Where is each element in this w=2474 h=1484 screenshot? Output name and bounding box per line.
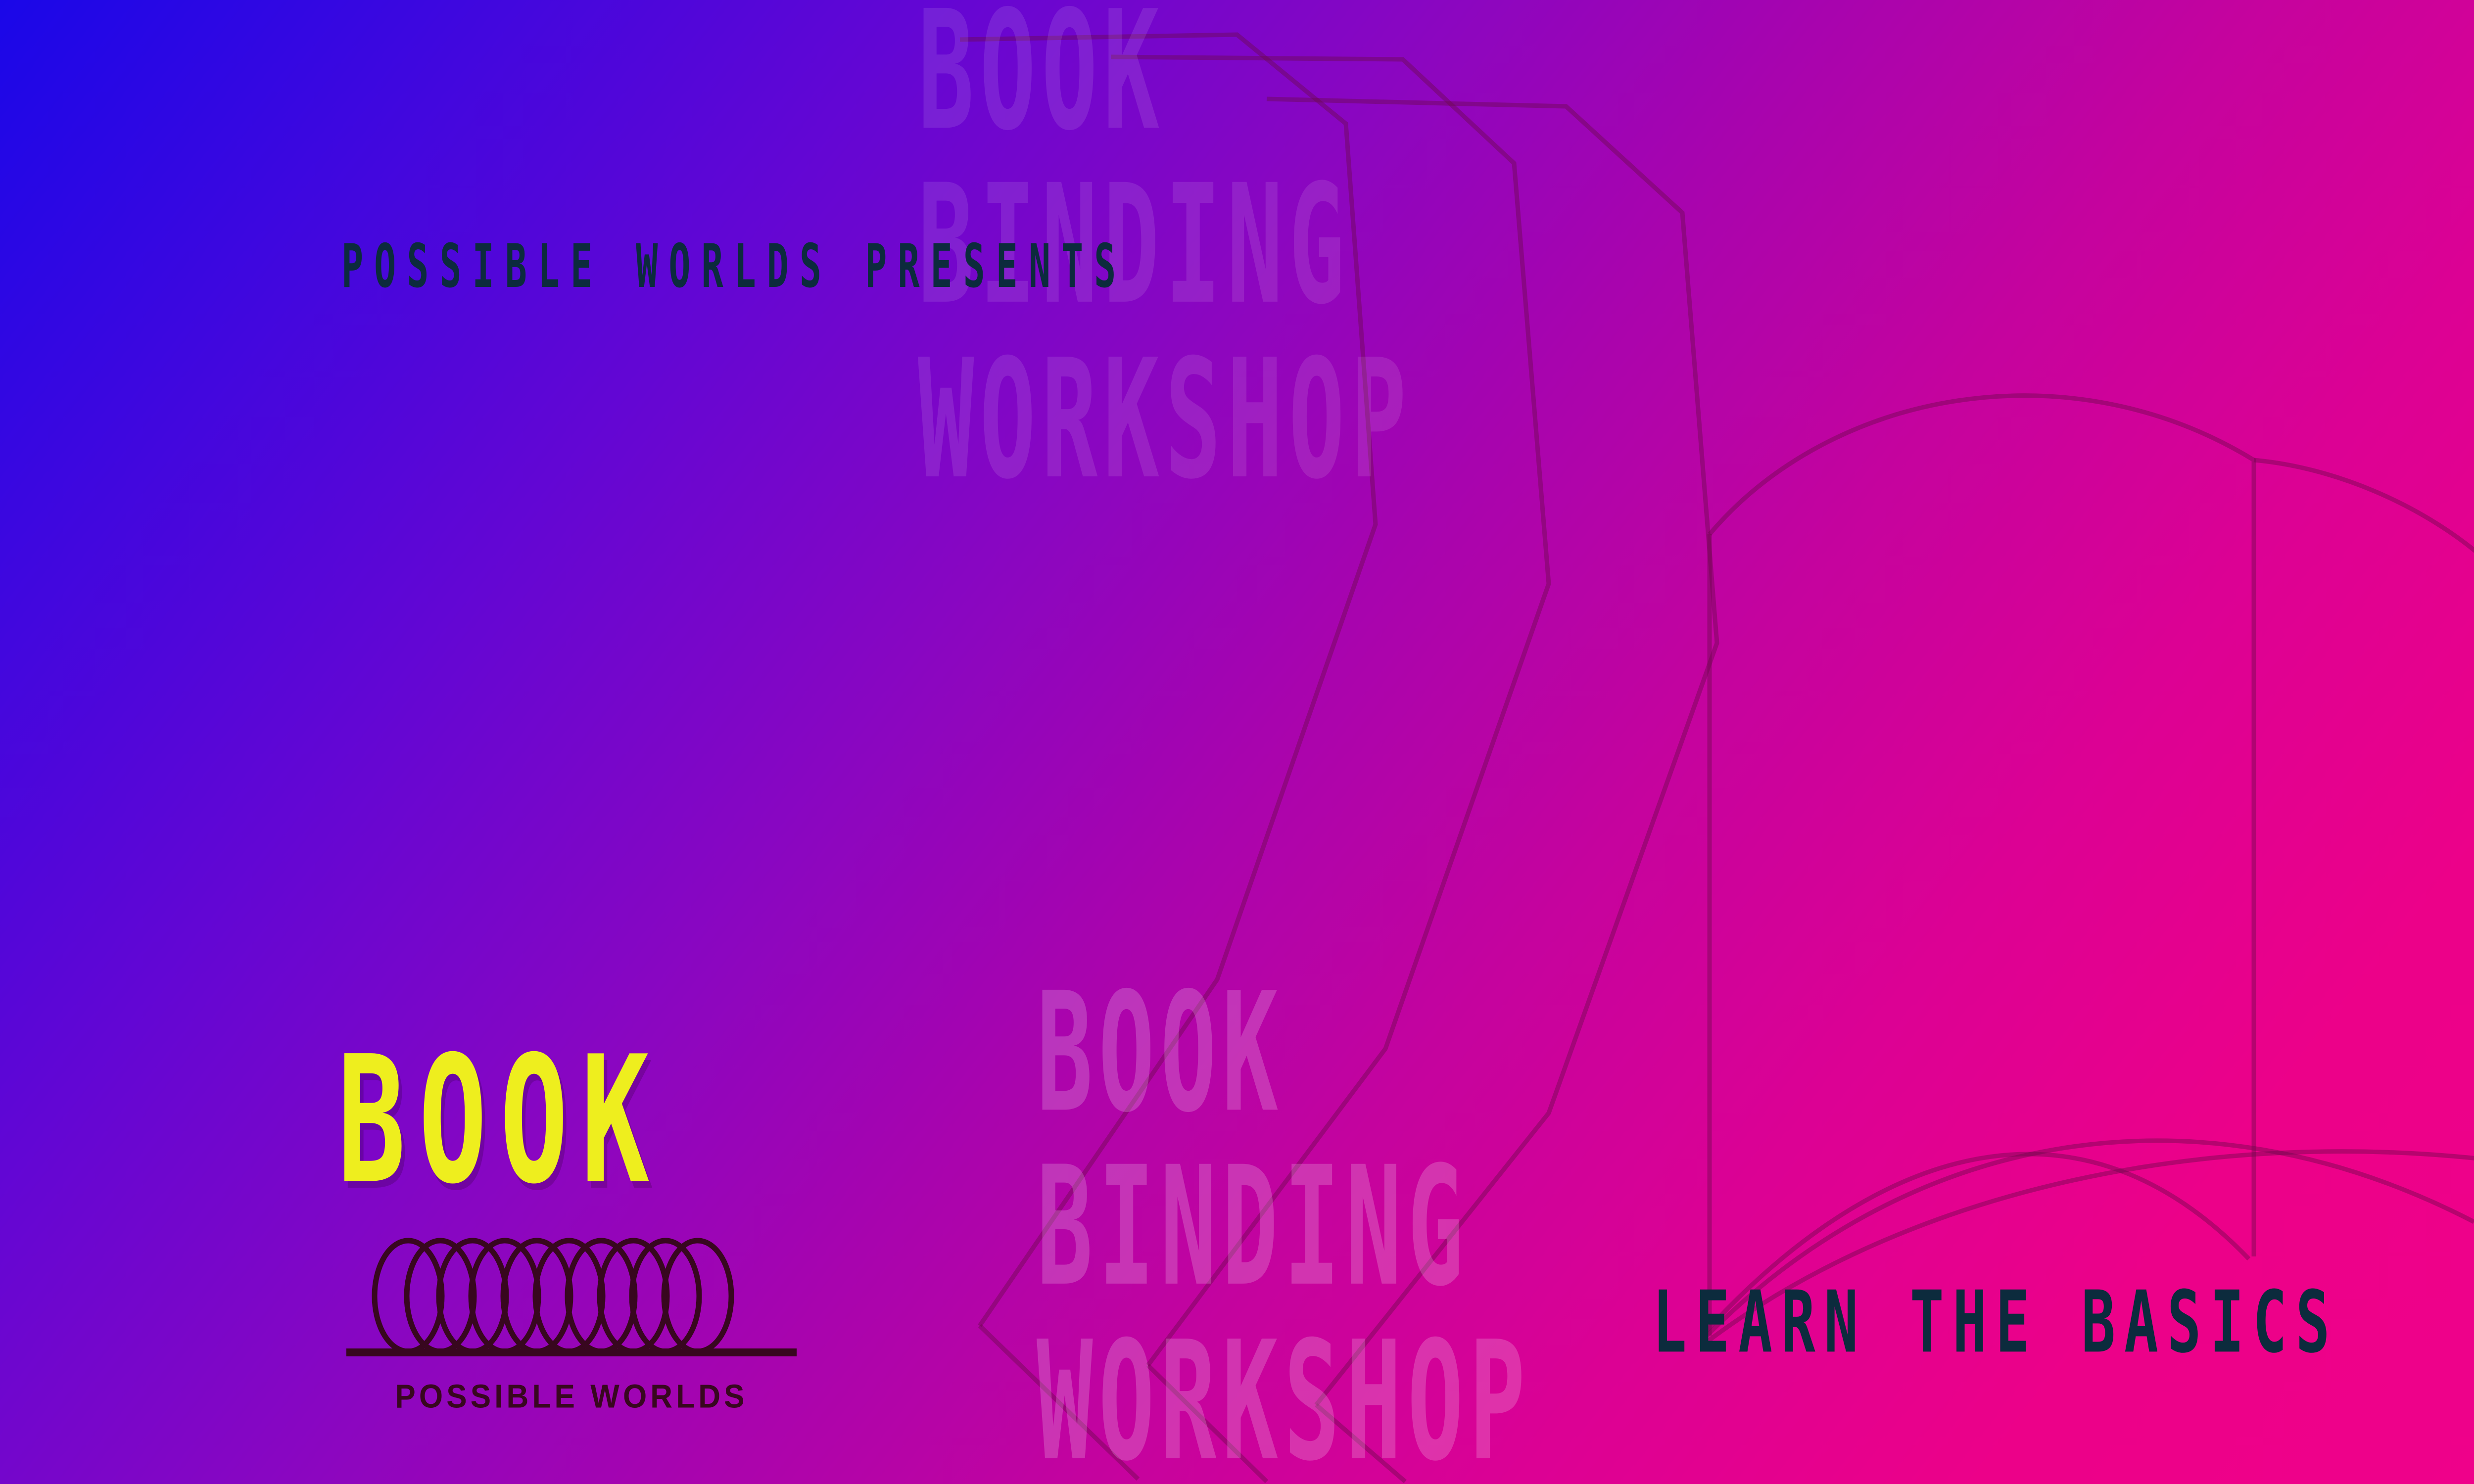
poster-canvas: BOOK BINDING WORKSHOP BOOK BINDING WORKS… (0, 0, 2474, 1484)
brand-logo: POSSIBLE WORLDS (341, 1237, 802, 1414)
subheading: LEARN THE BASICS OF BOOKBINDING (1479, 871, 2338, 1484)
logo-wordmark: POSSIBLE WORLDS (341, 1378, 802, 1416)
eyebrow-text: POSSIBLE WORLDS PRESENTS (341, 232, 1127, 302)
headline-line-1: BOOK (337, 991, 987, 1250)
subheading-line-1: LEARN THE BASICS (1479, 1232, 2338, 1412)
watermark-text-bottom: BOOK BINDING WORKSHOP (1037, 967, 1531, 1484)
spiral-binding-coil-icon (341, 1237, 802, 1360)
